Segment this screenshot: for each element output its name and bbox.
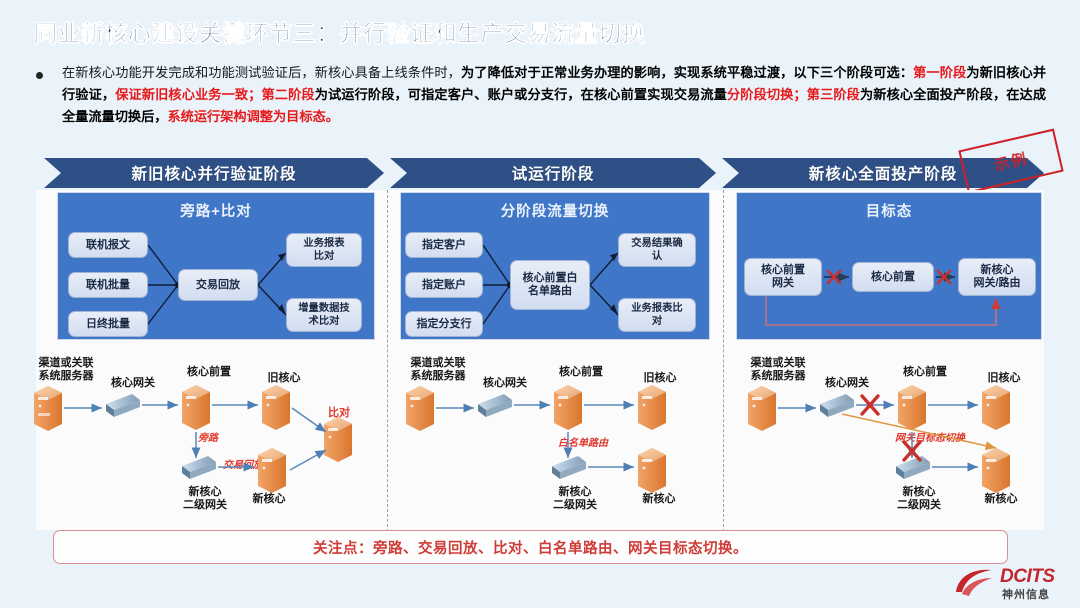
phase2-output-1[interactable]: 交易结果确 认 — [618, 233, 696, 267]
phase1-output-1[interactable]: 业务报表 比对 — [286, 233, 362, 267]
para-seg-2: 为了降低对于正常业务办理的影响，实现系统平稳过渡，以下三个阶段可选： — [461, 65, 913, 80]
phase3-label-frontend: 核心前置 — [892, 366, 958, 379]
phase2-input-2[interactable]: 指定账户 — [405, 272, 483, 298]
phase1-label-newgateway: 新核心 二级网关 — [172, 486, 238, 512]
phase1-center[interactable]: 交易回放 — [178, 269, 258, 301]
phase1-label-frontend: 核心前置 — [176, 366, 242, 379]
phase2-input-3[interactable]: 指定分支行 — [405, 311, 483, 337]
phase1-label-compare: 比对 — [318, 407, 360, 420]
phase-header-1[interactable]: 新旧核心并行验证阶段 — [44, 158, 384, 188]
para-seg-8: 分阶段切换； — [727, 87, 807, 102]
bullet-paragraph: 在新核心功能开发完成和功能测试验证后，新核心具备上线条件时，为了降低对于正常业务… — [62, 62, 1046, 128]
para-seg-9: 第三阶段 — [807, 87, 860, 102]
phase3-label-switch: 网关目标态切换 — [880, 432, 980, 445]
para-seg-6: 第二阶段 — [261, 87, 314, 102]
phase2-label-whitelist: 白名单路由 — [548, 437, 618, 450]
phase2-center[interactable]: 核心前置白 名单路由 — [510, 260, 590, 310]
bullet-paragraph-block: 在新核心功能开发完成和功能测试验证后，新核心具备上线条件时，为了降低对于正常业务… — [36, 62, 1046, 128]
phase1-input-3[interactable]: 日终批量 — [68, 311, 148, 337]
phase2-label-newcore: 新核心 — [630, 493, 688, 506]
phase2-input-1[interactable]: 指定客户 — [405, 232, 483, 258]
phase2-output-2[interactable]: 业务报表比 对 — [618, 298, 696, 332]
column-divider-2 — [723, 190, 724, 532]
para-seg-3: 第一阶段 — [913, 65, 966, 80]
para-seg-11: 系统运行架构调整为目标态。 — [168, 109, 339, 124]
para-seg-7: 为试运行阶段，可指定客户、账户或分支行，在核心前置实现交易流量 — [315, 87, 727, 102]
column-divider-1 — [387, 190, 388, 532]
phase2-label-channel: 渠道或关联 系统服务器 — [396, 357, 480, 383]
phase-header-2[interactable]: 试运行阶段 — [390, 158, 716, 188]
phase2-flow-title: 分阶段流量切换 — [401, 200, 709, 221]
phase1-output-2[interactable]: 增量数据技 术比对 — [286, 298, 362, 332]
page-title: 同业新核心建设关键环节三：并行验证和生产交易流量切换 — [34, 14, 645, 48]
phase3-label-newcore: 新核心 — [972, 493, 1030, 506]
phase3-label-oldcore: 旧核心 — [976, 372, 1032, 385]
sample-stamp-label: 示例 — [992, 147, 1030, 175]
focus-note: 关注点：旁路、交易回放、比对、白名单路由、网关目标态切换。 — [53, 530, 1008, 564]
phase2-label-newgateway: 新核心 二级网关 — [542, 486, 608, 512]
phase1-flow-title: 旁路+比对 — [58, 200, 374, 221]
phase3-label-newgateway: 新核心 二级网关 — [886, 486, 952, 512]
phase3-label-gateway: 核心网关 — [814, 377, 880, 390]
phase1-input-2[interactable]: 联机批量 — [68, 272, 148, 298]
para-seg-5: 保证新旧核心业务一致； — [115, 87, 261, 102]
phase1-input-1[interactable]: 联机报文 — [68, 232, 148, 258]
phase3-flow-title: 目标态 — [737, 200, 1041, 221]
bullet-dot-icon — [36, 72, 43, 79]
phase1-label-replay: 交易回放 — [214, 459, 272, 472]
phase2-label-frontend: 核心前置 — [548, 366, 614, 379]
phase3-node-1[interactable]: 核心前置 网关 — [744, 258, 822, 296]
phase3-node-3[interactable]: 新核心 网关/路由 — [958, 258, 1036, 296]
logo-swoosh-icon — [952, 566, 998, 598]
phase3-label-channel: 渠道或关联 系统服务器 — [736, 357, 820, 383]
phase2-label-oldcore: 旧核心 — [632, 372, 688, 385]
logo-subtitle: 神州信息 — [1002, 586, 1050, 602]
phase2-label-gateway: 核心网关 — [472, 377, 538, 390]
phase1-label-oldcore: 旧核心 — [256, 372, 312, 385]
brand-logo: DCITS 神州信息 — [952, 566, 1074, 602]
logo-title: DCITS — [1000, 566, 1055, 588]
phase1-label-channel: 渠道或关联 系统服务器 — [24, 357, 108, 383]
phase1-label-newcore: 新核心 — [240, 493, 298, 506]
phase1-label-bypass: 旁路 — [188, 432, 228, 445]
phase3-node-2[interactable]: 核心前置 — [852, 262, 934, 292]
para-seg-1: 在新核心功能开发完成和功能测试验证后，新核心具备上线条件时， — [62, 65, 461, 80]
phase1-label-gateway: 核心网关 — [100, 377, 166, 390]
